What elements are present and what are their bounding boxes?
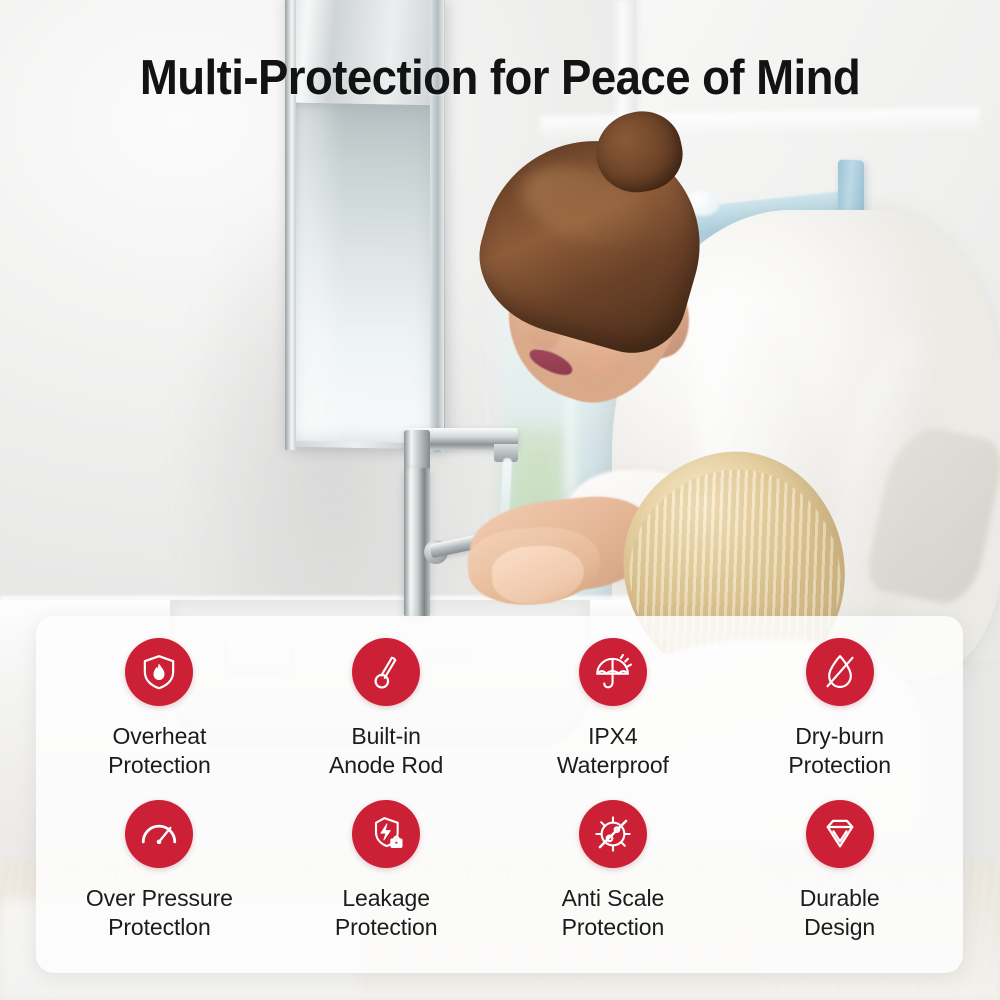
shield-bolt-plug-icon [352, 800, 420, 868]
feature-item-dry-burn-protection[interactable]: Dry-burn Protection [726, 638, 953, 798]
umbrella-rain-icon [579, 638, 647, 706]
feature-label-line2: Waterproof [557, 752, 669, 778]
shield-flame-icon [125, 638, 193, 706]
pressure-gauge-icon [125, 800, 193, 868]
feature-label-line2: Anode Rod [329, 752, 443, 778]
feature-label-line2: Protection [108, 752, 211, 778]
feature-label: Over Pressure Protectlon [86, 884, 233, 943]
feature-item-over-pressure-protection[interactable]: Over Pressure Protectlon [46, 798, 273, 958]
feature-item-ipx4-waterproof[interactable]: IPX4 Waterproof [500, 638, 727, 798]
feature-label-line2: Protection [788, 752, 891, 778]
feature-item-leakage-protection[interactable]: Leakage Protection [273, 798, 500, 958]
germ-slash-icon [579, 800, 647, 868]
feature-label: IPX4 Waterproof [557, 722, 669, 781]
feature-panel: Overheat Protection Built-in Anode Rod [36, 616, 963, 973]
feature-label-line1: Durable [800, 885, 880, 911]
feature-label-line1: Built-in [351, 723, 421, 749]
diamond-check-icon [806, 800, 874, 868]
feature-label-line1: Leakage [342, 885, 430, 911]
faucet-body [404, 468, 430, 616]
feature-label: Built-in Anode Rod [329, 722, 443, 781]
water-drop-slash-icon [806, 638, 874, 706]
feature-label-line1: Anti Scale [562, 885, 665, 911]
feature-label-line2: Protectlon [108, 914, 211, 940]
mirror-highlight [296, 104, 342, 441]
page-title: Multi-Protection for Peace of Mind [35, 52, 965, 105]
feature-label: Dry-burn Protection [788, 722, 891, 781]
thermometer-icon [352, 638, 420, 706]
feature-label: Anti Scale Protection [562, 884, 665, 943]
feature-label-line2: Protection [335, 914, 438, 940]
feature-item-anti-scale-protection[interactable]: Anti Scale Protection [500, 798, 727, 958]
feature-label: Leakage Protection [335, 884, 438, 943]
feature-item-durable-design[interactable]: Durable Design [726, 798, 953, 958]
feature-label-line1: IPX4 [588, 723, 637, 749]
feature-label-line2: Protection [562, 914, 665, 940]
feature-label-line1: Overheat [112, 723, 206, 749]
feature-label: Durable Design [800, 884, 880, 943]
feature-grid: Overheat Protection Built-in Anode Rod [36, 616, 963, 973]
feature-label-line2: Design [804, 914, 875, 940]
feature-label-line1: Dry-burn [795, 723, 884, 749]
feature-item-overheat-protection[interactable]: Overheat Protection [46, 638, 273, 798]
feature-label: Overheat Protection [108, 722, 211, 781]
feature-item-built-in-anode-rod[interactable]: Built-in Anode Rod [273, 638, 500, 798]
product-feature-graphic: Multi-Protection for Peace of Mind Overh… [0, 0, 1000, 1000]
feature-label-line1: Over Pressure [86, 885, 233, 911]
